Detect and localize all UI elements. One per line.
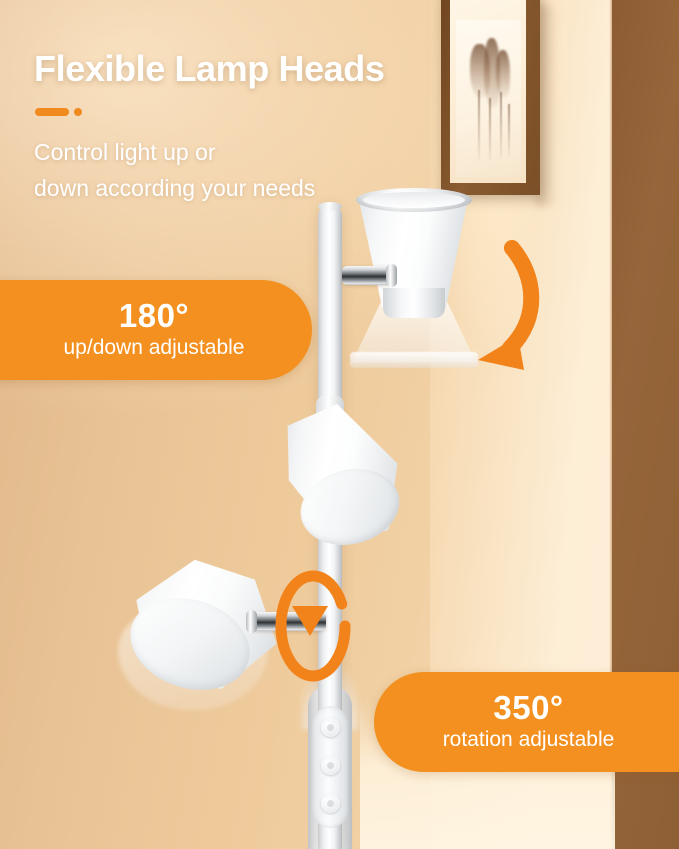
- rotation-arrow-350-icon: [258, 568, 368, 684]
- badge-180-degrees: 180° up/down adjustable: [0, 280, 312, 380]
- art-drip-line: [489, 98, 491, 160]
- badge-350-degrees: 350° rotation adjustable: [374, 672, 679, 772]
- subtitle-line-2: down according your needs: [34, 170, 315, 206]
- badge-180-value: 180°: [119, 298, 189, 334]
- art-drip-line: [508, 104, 510, 156]
- art-brush-stroke: [496, 50, 510, 98]
- chrome-joint-top-cap: [386, 264, 397, 287]
- product-feature-image: Flexible Lamp Heads Control light up or …: [0, 0, 679, 849]
- control-button-brightness[interactable]: [321, 756, 340, 775]
- frame-side-bevel: [525, 0, 540, 195]
- framed-artwork: [441, 0, 540, 195]
- rotation-arrow-180-icon: [432, 240, 552, 380]
- control-button-power[interactable]: [321, 718, 340, 737]
- subtitle: Control light up or down according your …: [34, 134, 315, 206]
- control-panel: [312, 706, 348, 828]
- lamp-head-top-inner: [363, 192, 465, 208]
- art-drip-line: [500, 92, 502, 158]
- page-title: Flexible Lamp Heads: [34, 48, 385, 90]
- frame-inner-board: [450, 0, 526, 183]
- accent-divider: [35, 108, 82, 116]
- art-drip-line: [478, 90, 480, 160]
- badge-350-value: 350°: [493, 690, 563, 726]
- accent-dot: [74, 108, 82, 116]
- badge-350-label: rotation adjustable: [443, 726, 615, 754]
- frame-mat: [456, 20, 521, 177]
- subtitle-line-1: Control light up or: [34, 134, 315, 170]
- lamp-pole-cap: [318, 202, 342, 211]
- control-button-color-temp[interactable]: [321, 794, 340, 813]
- badge-180-label: up/down adjustable: [64, 334, 245, 362]
- chrome-joint-bottom-cap: [246, 610, 257, 633]
- accent-dash: [35, 108, 69, 116]
